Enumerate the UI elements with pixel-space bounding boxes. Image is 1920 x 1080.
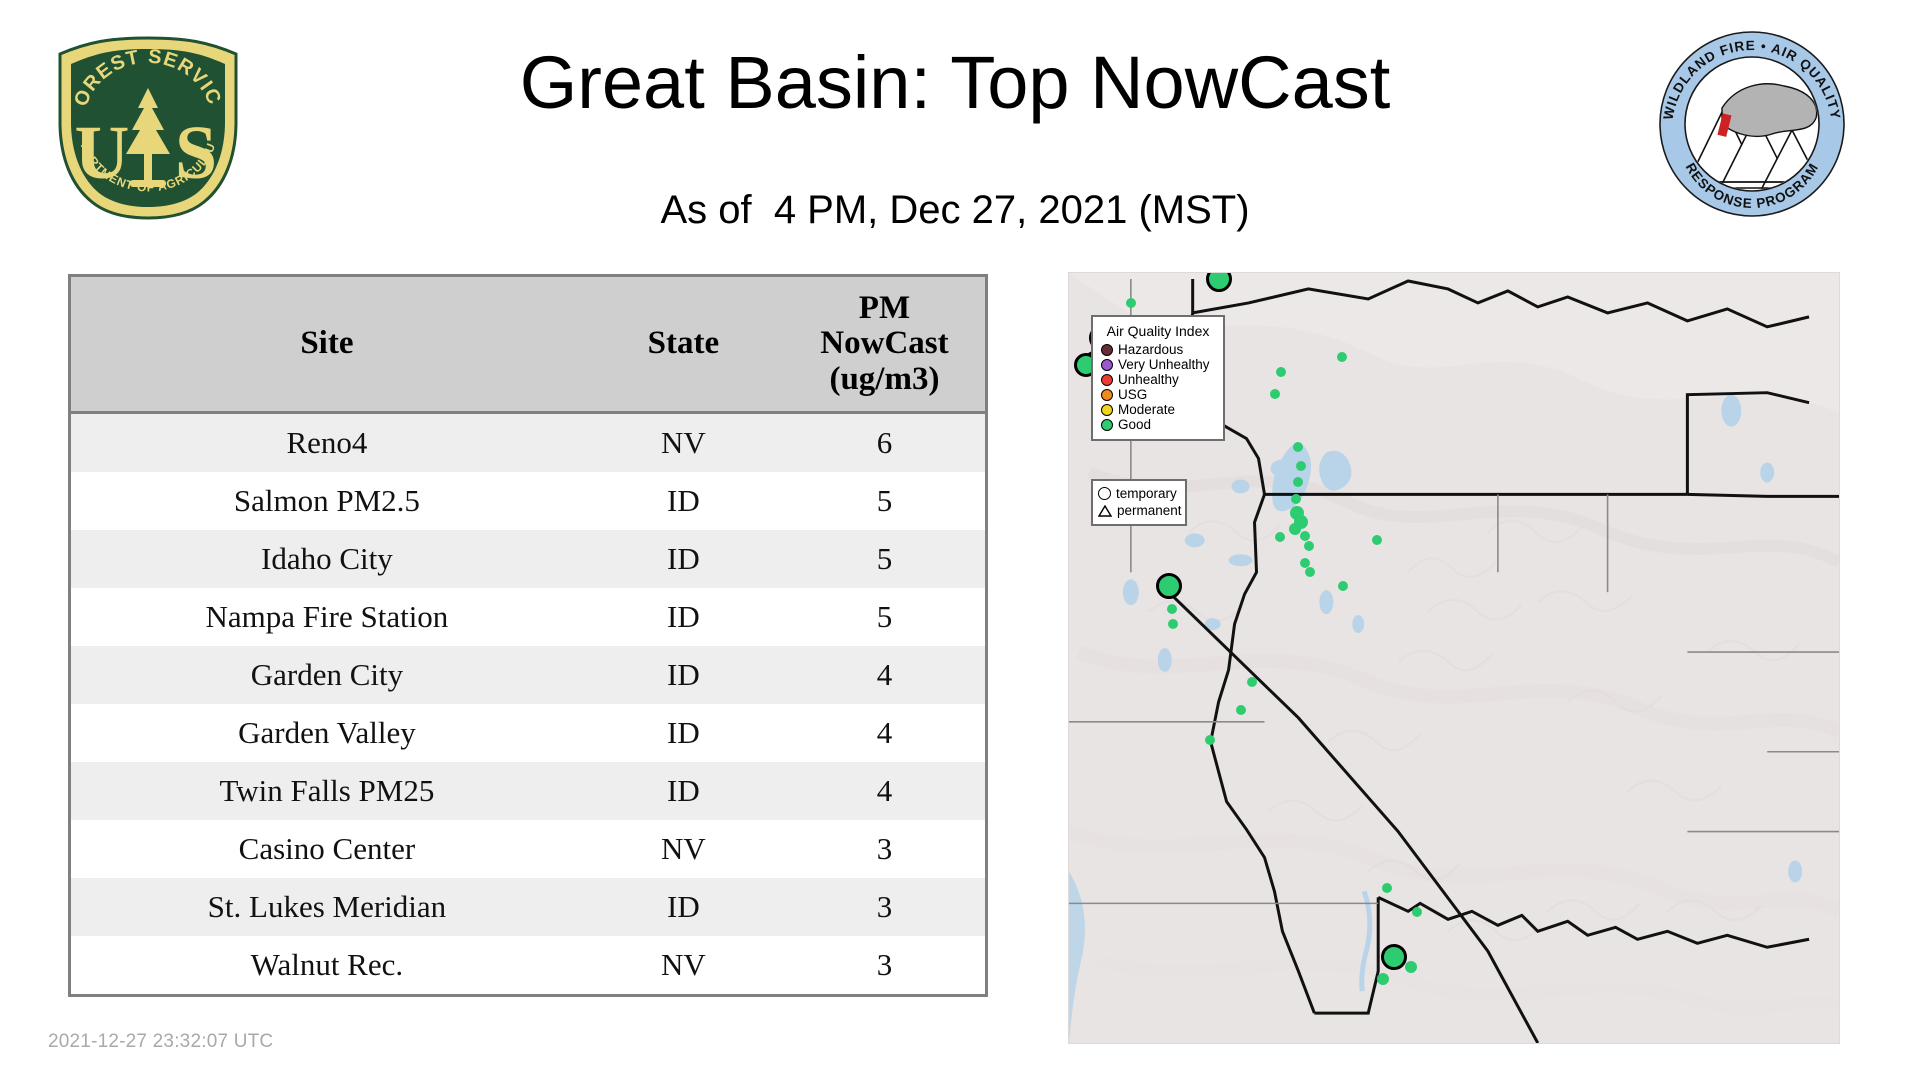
cell-pm: 3: [784, 820, 985, 878]
cell-site: Nampa Fire Station: [71, 588, 583, 646]
cell-pm: 3: [784, 936, 985, 994]
station-marker[interactable]: [1377, 973, 1389, 985]
station-marker[interactable]: [1236, 705, 1246, 715]
table-row: Walnut Rec.NV3: [71, 936, 985, 994]
station-marker[interactable]: [1275, 532, 1285, 542]
aqi-dot-icon: [1101, 404, 1113, 416]
table-header-row: Site State PM NowCast (ug/m3): [71, 277, 985, 413]
cell-site: Idaho City: [71, 530, 583, 588]
aqi-dot-icon: [1101, 374, 1113, 386]
station-marker[interactable]: [1296, 461, 1306, 471]
cell-state: ID: [583, 472, 784, 530]
cell-site: Reno4: [71, 413, 583, 473]
aqi-legend: Air Quality Index Hazardous Very Unhealt…: [1091, 315, 1225, 441]
cell-state: ID: [583, 878, 784, 936]
cell-pm: 3: [784, 878, 985, 936]
legend-item-temporary: temporary: [1098, 485, 1180, 502]
cell-state: NV: [583, 936, 784, 994]
station-marker[interactable]: [1126, 298, 1136, 308]
station-marker[interactable]: [1289, 523, 1301, 535]
cell-site: Garden Valley: [71, 704, 583, 762]
station-marker[interactable]: [1291, 494, 1301, 504]
cell-pm: 5: [784, 588, 985, 646]
table-row: Idaho CityID5: [71, 530, 985, 588]
cell-state: ID: [583, 530, 784, 588]
station-marker[interactable]: [1300, 558, 1310, 568]
aqi-dot-icon: [1101, 344, 1113, 356]
table-row: Garden ValleyID4: [71, 704, 985, 762]
legend-item-usg: USG: [1101, 387, 1215, 402]
cell-state: NV: [583, 413, 784, 473]
fs-logo-letter-s: S: [175, 111, 217, 195]
monitor-type-legend: temporary permanent: [1091, 479, 1187, 526]
station-marker[interactable]: [1304, 541, 1314, 551]
cell-site: Salmon PM2.5: [71, 472, 583, 530]
column-header-site: Site: [71, 277, 583, 413]
cell-site: St. Lukes Meridian: [71, 878, 583, 936]
station-marker[interactable]: [1167, 604, 1177, 614]
column-header-pm-nowcast: PM NowCast (ug/m3): [784, 277, 985, 413]
legend-item-permanent: permanent: [1098, 502, 1180, 519]
station-marker[interactable]: [1293, 442, 1303, 452]
cell-pm: 4: [784, 704, 985, 762]
cell-site: Garden City: [71, 646, 583, 704]
triangle-marker-icon: [1098, 505, 1112, 517]
station-marker[interactable]: [1382, 883, 1392, 893]
legend-item-hazardous: Hazardous: [1101, 342, 1215, 357]
station-marker[interactable]: [1405, 961, 1417, 973]
cell-site: Twin Falls PM25: [71, 762, 583, 820]
legend-item-good: Good: [1101, 417, 1215, 432]
wfaqrp-logo: WILDLAND FIRE • AIR QUALITY RESPONSE PRO…: [1658, 30, 1846, 218]
aqi-legend-title: Air Quality Index: [1101, 323, 1215, 339]
table-row: Casino CenterNV3: [71, 820, 985, 878]
station-marker[interactable]: [1156, 573, 1182, 599]
cell-state: NV: [583, 820, 784, 878]
page-subtitle: As of 4 PM, Dec 27, 2021 (MST): [260, 188, 1650, 233]
cell-state: ID: [583, 762, 784, 820]
legend-item-very-unhealthy: Very Unhealthy: [1101, 357, 1215, 372]
cell-state: ID: [583, 646, 784, 704]
station-marker[interactable]: [1338, 581, 1348, 591]
aqi-dot-icon: [1101, 419, 1113, 431]
station-marker[interactable]: [1372, 535, 1382, 545]
wildland-fire-air-quality-icon: WILDLAND FIRE • AIR QUALITY RESPONSE PRO…: [1658, 30, 1846, 218]
circle-marker-icon: [1098, 487, 1111, 500]
table-row: Nampa Fire StationID5: [71, 588, 985, 646]
top-nowcast-table: Site State PM NowCast (ug/m3) Reno4NV6 S…: [68, 274, 988, 997]
great-basin-map[interactable]: Air Quality Index Hazardous Very Unhealt…: [1068, 272, 1840, 1044]
forest-service-shield-icon: FOREST SERVICE DEPARTMENT OF AGRICULTURE…: [48, 26, 248, 222]
station-marker[interactable]: [1276, 367, 1286, 377]
cell-state: ID: [583, 588, 784, 646]
usda-forest-service-logo: FOREST SERVICE DEPARTMENT OF AGRICULTURE…: [48, 26, 248, 222]
cell-site: Casino Center: [71, 820, 583, 878]
fs-logo-letter-u: U: [75, 111, 130, 195]
cell-site: Walnut Rec.: [71, 936, 583, 994]
station-marker[interactable]: [1337, 352, 1347, 362]
generated-timestamp: 2021-12-27 23:32:07 UTC: [48, 1031, 273, 1053]
station-marker[interactable]: [1168, 619, 1178, 629]
cell-pm: 4: [784, 762, 985, 820]
cell-pm: 4: [784, 646, 985, 704]
table-body: Reno4NV6 Salmon PM2.5ID5 Idaho CityID5 N…: [71, 413, 985, 995]
table-row: Salmon PM2.5ID5: [71, 472, 985, 530]
page-title: Great Basin: Top NowCast: [260, 44, 1650, 122]
table-row: St. Lukes MeridianID3: [71, 878, 985, 936]
station-marker[interactable]: [1381, 944, 1407, 970]
column-header-state: State: [583, 277, 784, 413]
table-row: Twin Falls PM25ID4: [71, 762, 985, 820]
station-marker[interactable]: [1270, 389, 1280, 399]
cell-pm: 6: [784, 413, 985, 473]
cell-state: ID: [583, 704, 784, 762]
legend-item-unhealthy: Unhealthy: [1101, 372, 1215, 387]
station-marker[interactable]: [1247, 677, 1257, 687]
table-row: Reno4NV6: [71, 413, 985, 473]
aqi-dot-icon: [1101, 359, 1113, 371]
station-marker[interactable]: [1305, 567, 1315, 577]
station-marker[interactable]: [1412, 907, 1422, 917]
cell-pm: 5: [784, 530, 985, 588]
cell-pm: 5: [784, 472, 985, 530]
station-marker[interactable]: [1293, 477, 1303, 487]
table-row: Garden CityID4: [71, 646, 985, 704]
aqi-dot-icon: [1101, 389, 1113, 401]
legend-item-moderate: Moderate: [1101, 402, 1215, 417]
station-marker[interactable]: [1300, 531, 1310, 541]
station-marker[interactable]: [1205, 735, 1215, 745]
